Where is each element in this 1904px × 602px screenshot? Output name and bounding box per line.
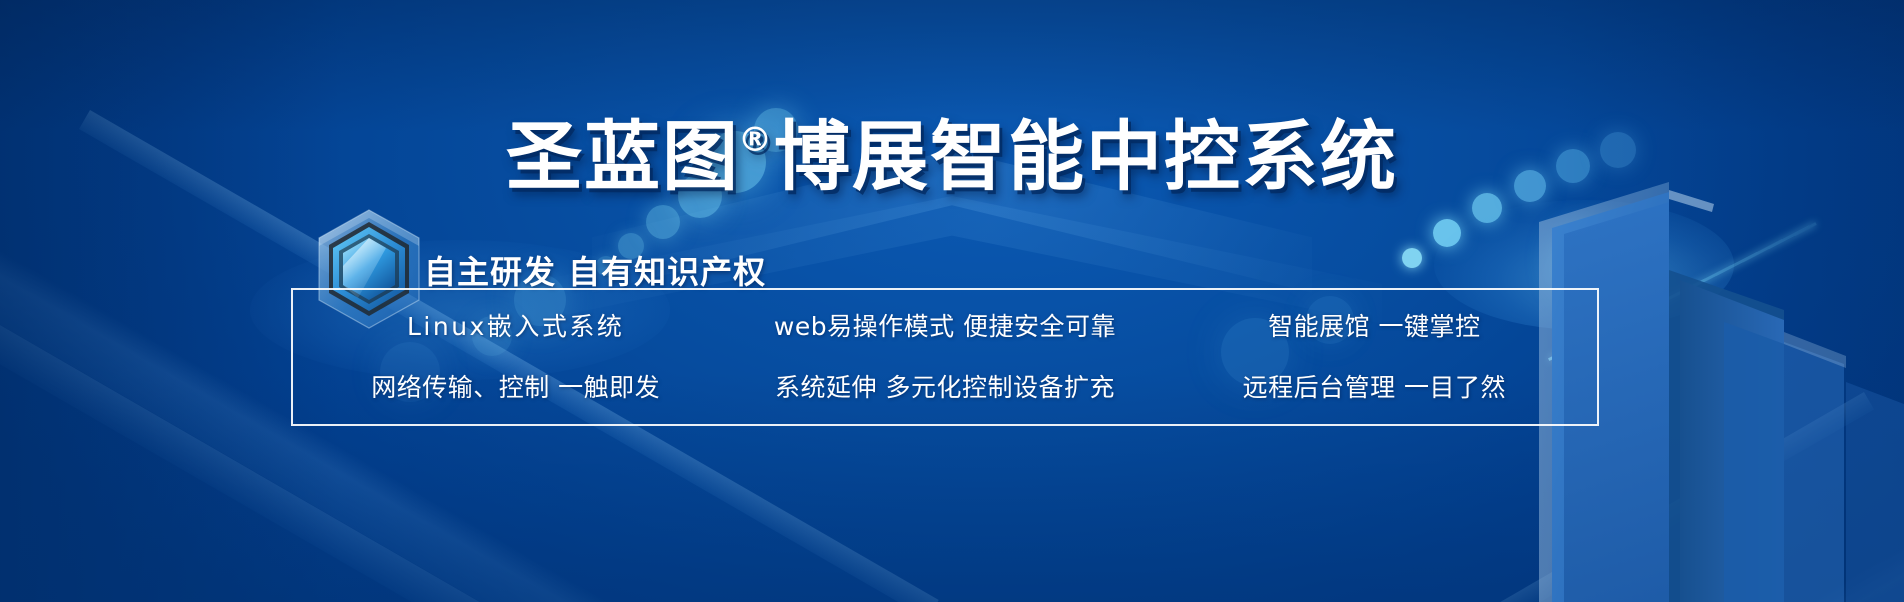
promo-banner: 圣蓝图®博展智能中控系统 自主研发 自有知识产权 Linux嵌入式系统 web易… bbox=[0, 0, 1904, 602]
feature-item-2: web易操作模式 便捷安全可靠 bbox=[774, 307, 1116, 343]
title-rest: 博展智能中控系统 bbox=[774, 112, 1398, 201]
feature-item-6: 远程后台管理 一目了然 bbox=[1243, 368, 1506, 404]
feature-item-4: 网络传输、控制 一触即发 bbox=[371, 368, 660, 404]
feature-item-1: Linux嵌入式系统 bbox=[407, 307, 624, 343]
feature-item-3: 智能展馆 一键掌控 bbox=[1268, 307, 1480, 343]
subtitle: 自主研发 自有知识产权 bbox=[424, 247, 766, 293]
registered-trademark-icon: ® bbox=[738, 120, 772, 160]
title-brand: 圣蓝图 bbox=[506, 112, 740, 201]
page-title: 圣蓝图®博展智能中控系统 bbox=[0, 119, 1904, 195]
feature-item-5: 系统延伸 多元化控制设备扩充 bbox=[775, 368, 1115, 404]
feature-list: Linux嵌入式系统 web易操作模式 便捷安全可靠 智能展馆 一键掌控 网络传… bbox=[291, 288, 1599, 426]
